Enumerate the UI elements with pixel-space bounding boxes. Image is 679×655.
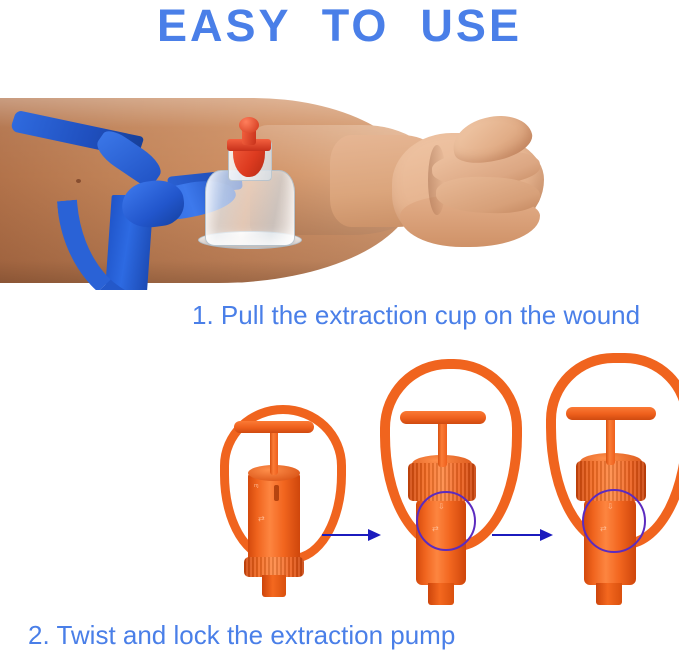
- pump-twisting: ⇩ ⇄: [378, 359, 508, 609]
- page-title: EASY TO USE: [0, 2, 679, 50]
- pump-plunger-handle: [400, 411, 486, 424]
- pump-plunger-rod: [606, 413, 615, 465]
- pump-nozzle: [262, 575, 286, 597]
- step-1-caption: 1. Pull the extraction cup on the wound: [192, 300, 640, 330]
- sequence-arrow-1: [322, 528, 382, 542]
- lock-highlight-circle: [582, 489, 646, 553]
- pump-locking-collar: [244, 557, 304, 577]
- pump-body-marking: ᶬ: [254, 483, 259, 491]
- extraction-cup-body: [205, 170, 295, 246]
- pump-nozzle: [428, 583, 454, 605]
- step-1-photo: [0, 55, 679, 290]
- pump-unlocked: ᶬ ⇄: [214, 405, 336, 600]
- pump-plunger-rod: [270, 427, 278, 475]
- pump-locked: ⇩ ⇄: [544, 353, 678, 609]
- skin-mole: [76, 179, 81, 183]
- pump-plunger-handle: [234, 421, 314, 433]
- pump-nozzle: [596, 583, 622, 605]
- step-2-caption: 2. Twist and lock the extraction pump: [28, 620, 455, 650]
- pump-cylinder-vent: [274, 485, 279, 501]
- pump-plunger-rod: [438, 417, 447, 467]
- valve-knob-icon: [239, 117, 259, 133]
- pump-plunger-handle: [566, 407, 656, 420]
- lock-highlight-circle: [416, 491, 476, 551]
- step-2-sequence: ᶬ ⇄ ⇩ ⇄: [0, 345, 679, 615]
- product-instruction-image: EASY TO USE 1. Pull the extraction cup: [0, 0, 679, 655]
- pump-lock-marking: ⇄: [258, 515, 265, 523]
